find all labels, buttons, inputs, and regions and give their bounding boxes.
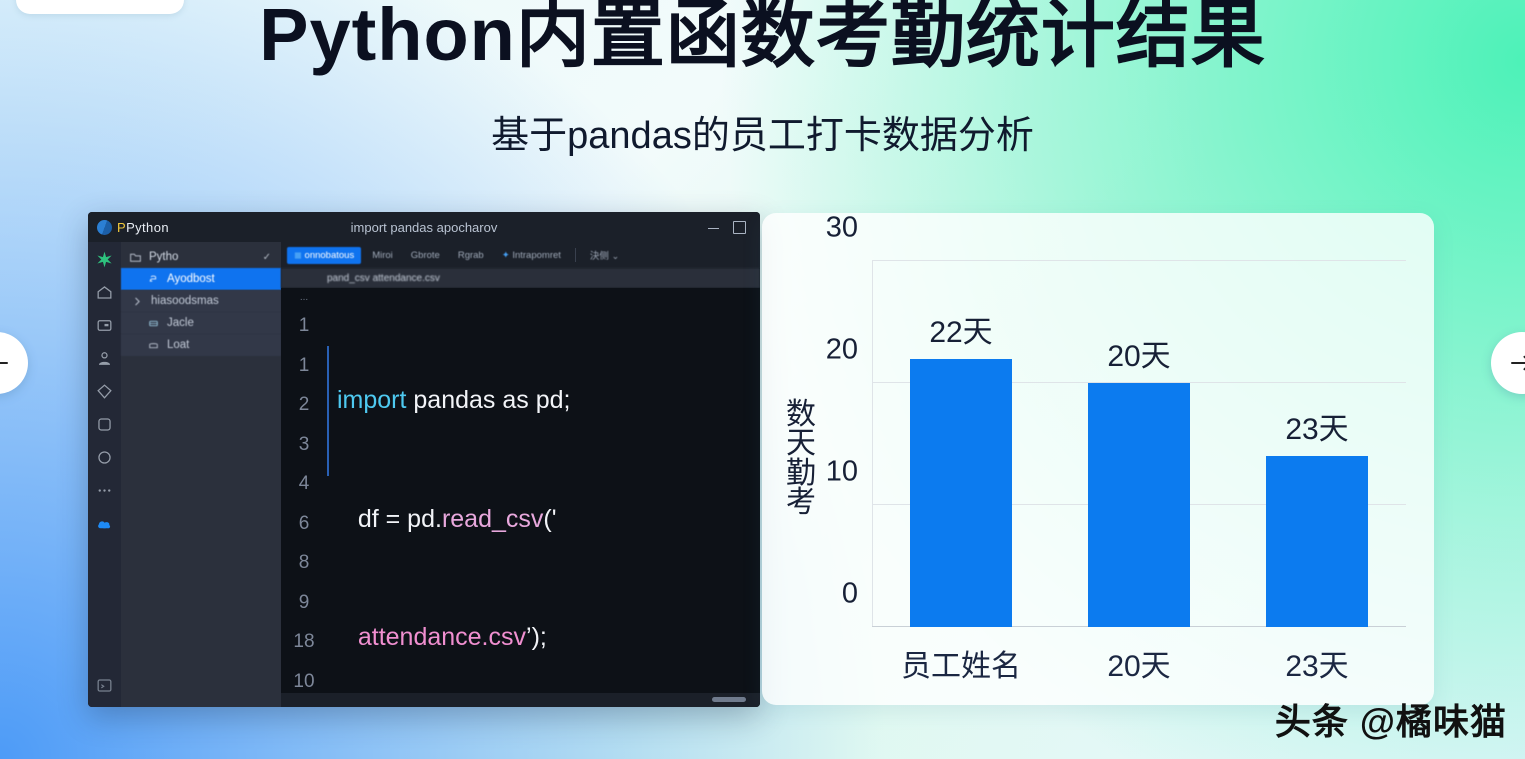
editor-tab-label: onnobatous: [305, 250, 355, 261]
activity-bar: [88, 242, 121, 707]
tree-item-selected[interactable]: Ayodbost: [121, 268, 281, 290]
star-icon[interactable]: [95, 250, 114, 269]
x-axis-tick: 员工姓名: [901, 641, 1021, 685]
card-icon[interactable]: [95, 316, 114, 335]
line-number: 18: [281, 622, 327, 662]
y-axis-tick: 0: [842, 578, 858, 611]
terminal-icon[interactable]: [95, 676, 114, 695]
tree-item-file-2[interactable]: Loat: [121, 334, 281, 356]
code-editor[interactable]: ◼ onnobatous Miroi Gbrote Rgrab ✦ Intrap…: [281, 242, 760, 707]
line-number: 6: [281, 504, 327, 544]
home-icon[interactable]: [95, 283, 114, 302]
editor-tab-2[interactable]: Gbrote: [404, 247, 447, 264]
code-content[interactable]: import pandas as pd; df = pd.read_csv(' …: [327, 288, 760, 693]
editor-tab-label: Intrapomret: [512, 250, 561, 261]
editor-tab-0[interactable]: ◼ onnobatous: [287, 247, 361, 264]
gridline: [872, 260, 1406, 261]
line-number: 3: [281, 425, 327, 465]
ide-window: PPython import pandas apocharov: [88, 212, 760, 707]
bar-value-label: 20天: [1107, 331, 1170, 375]
chart-card: 数天勤考 010203022天20天23天 员工姓名20天23天: [762, 213, 1434, 705]
code-line-1: import pandas as pd;: [337, 381, 760, 421]
tab-divider: [575, 248, 576, 262]
x-axis-tick: 23天: [1285, 641, 1348, 685]
tree-item-label: hiasoodsmas: [151, 295, 219, 307]
line-number: ...: [281, 290, 327, 306]
bar-value-label: 23天: [1285, 404, 1348, 448]
ide-titlebar: PPython import pandas apocharov: [88, 212, 760, 242]
editor-tab-5[interactable]: 決侧 ⌄: [583, 245, 626, 265]
page-subtitle: 基于pandas的员工打卡数据分析: [0, 104, 1525, 159]
tree-item-label: Loat: [167, 339, 189, 351]
person-icon[interactable]: [95, 349, 114, 368]
code-area[interactable]: ... 1 1 2 3 4 6 8 9 18 10 11: [281, 288, 760, 693]
breadcrumb: pand_csv attendance.csv: [281, 268, 760, 288]
check-icon: ✓: [263, 252, 281, 263]
editor-tab-strip[interactable]: ◼ onnobatous Miroi Gbrote Rgrab ✦ Intrap…: [281, 242, 760, 268]
tree-item-label: Jacle: [167, 317, 194, 329]
code-token: import: [337, 386, 413, 414]
line-number: 10: [281, 662, 327, 694]
line-number: 8: [281, 543, 327, 583]
minimize-button[interactable]: [708, 228, 719, 230]
editor-tab-label: 決侧: [590, 251, 609, 262]
bar[interactable]: [1266, 456, 1367, 627]
slide-canvas: Python内置函数考勤统计结果 基于pandas的员工打卡数据分析 PPyth…: [0, 0, 1525, 759]
line-number: 1: [281, 306, 327, 346]
watermark: 头条 @橘味猫: [1275, 693, 1507, 745]
y-axis-label: 数天勤考: [784, 400, 818, 518]
ide-app-name: PPython: [117, 220, 169, 235]
bar[interactable]: [910, 359, 1011, 627]
tab-bullet-icon: ◼: [294, 250, 305, 261]
y-axis-line: [872, 261, 873, 627]
file-icon: [147, 317, 160, 330]
editor-tab-3[interactable]: Rgrab: [451, 247, 491, 264]
ide-brand: PPython: [88, 220, 169, 235]
next-slide-button[interactable]: [1491, 332, 1525, 394]
x-axis-tick: 20天: [1107, 641, 1170, 685]
code-token: (': [543, 505, 556, 533]
file-explorer[interactable]: Pytho ✓ Ayodbost hiasoodsmas: [121, 242, 281, 707]
line-number: 2: [281, 385, 327, 425]
ide-status-bar: [281, 693, 760, 707]
horizontal-scrollbar[interactable]: [712, 697, 746, 702]
editor-tab-1[interactable]: Miroi: [365, 247, 400, 264]
tree-item-root[interactable]: Pytho ✓: [121, 246, 281, 268]
diamond-icon[interactable]: [95, 382, 114, 401]
dots-icon[interactable]: [95, 481, 114, 500]
tree-item-label: Pytho: [149, 251, 178, 263]
editor-tab-4[interactable]: ✦ Intrapomret: [495, 247, 568, 264]
python-logo-icon: [97, 220, 112, 235]
code-token: pandas as pd;: [413, 386, 570, 414]
tree-item-file-1[interactable]: Jacle: [121, 312, 281, 334]
circle-icon[interactable]: [95, 448, 114, 467]
bar[interactable]: [1088, 383, 1189, 627]
ide-window-title: import pandas apocharov: [88, 220, 760, 235]
window-controls: [708, 221, 760, 234]
chevron-right-icon: [131, 295, 144, 308]
line-number: 4: [281, 464, 327, 504]
line-number: 9: [281, 583, 327, 623]
plot-area: 010203022天20天23天: [872, 261, 1406, 627]
line-number: 1: [281, 346, 327, 386]
square-icon[interactable]: [95, 415, 114, 434]
tree-item-label: Ayodbost: [167, 273, 215, 285]
y-axis-tick: 20: [826, 334, 858, 367]
app-name-rest: Python: [126, 220, 169, 235]
code-line-2: df = pd.read_csv(': [337, 500, 760, 540]
line-number-gutter: ... 1 1 2 3 4 6 8 9 18 10 11: [281, 288, 327, 693]
cursor-caret: [327, 346, 329, 476]
python-file-icon: [147, 273, 160, 286]
bar-value-label: 22天: [929, 307, 992, 351]
code-line-3: attendance.csv’);: [337, 618, 760, 658]
cloud-upload-icon[interactable]: [95, 514, 114, 533]
arrow-right-icon: [1507, 348, 1525, 378]
code-token: df = pd.: [337, 505, 442, 533]
arrow-left-icon: [0, 348, 12, 378]
maximize-button[interactable]: [733, 221, 746, 234]
tree-item-collapsed[interactable]: hiasoodsmas: [121, 290, 281, 312]
y-axis-tick: 10: [826, 456, 858, 489]
code-token: ’);: [526, 623, 547, 651]
page-title: Python内置函数考勤统计结果: [0, 0, 1525, 77]
app-name-glyph: P: [117, 220, 126, 235]
y-axis-tick: 30: [826, 212, 858, 245]
code-token: attendance.csv: [337, 623, 526, 651]
folder-icon: [129, 251, 142, 264]
chevron-down-icon: ⌄: [612, 251, 620, 261]
file-icon: [147, 339, 160, 352]
tab-gear-icon: ✦: [502, 250, 513, 261]
prev-slide-button[interactable]: [0, 332, 28, 394]
ide-body: Pytho ✓ Ayodbost hiasoodsmas: [88, 242, 760, 707]
code-token: read_csv: [442, 505, 543, 533]
